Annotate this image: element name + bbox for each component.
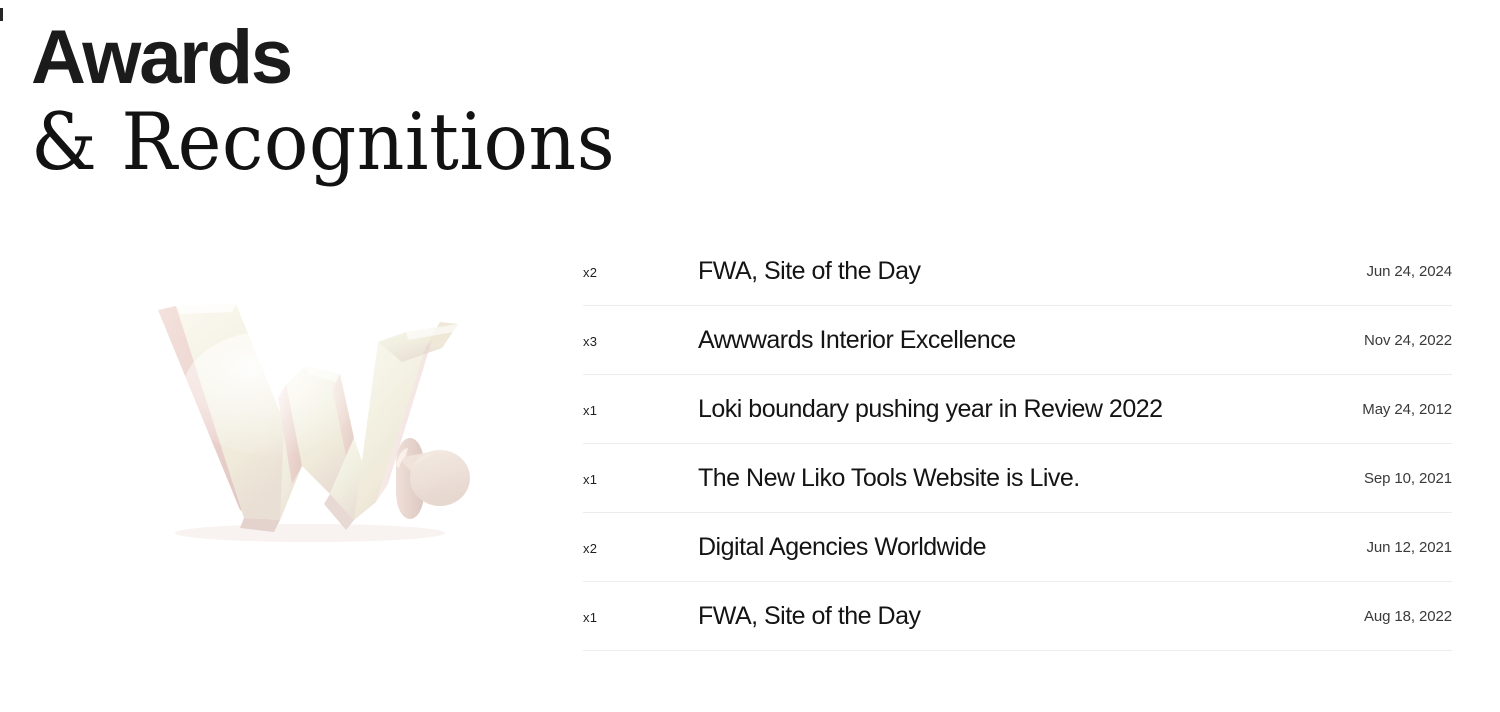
award-count: x1: [583, 401, 698, 418]
award-title: FWA, Site of the Day: [698, 257, 1366, 286]
award-date: Nov 24, 2022: [1364, 332, 1452, 349]
award-title: Digital Agencies Worldwide: [698, 533, 1366, 562]
award-count: x2: [583, 539, 698, 556]
award-title: FWA, Site of the Day: [698, 602, 1364, 631]
awards-page: Awards & Recognitions: [0, 0, 1500, 712]
award-title: Awwwards Interior Excellence: [698, 326, 1364, 355]
award-date: Sep 10, 2021: [1364, 470, 1452, 487]
table-row[interactable]: x1 The New Liko Tools Website is Live. S…: [583, 444, 1452, 513]
table-row[interactable]: x3 Awwwards Interior Excellence Nov 24, …: [583, 306, 1452, 375]
award-date: Aug 18, 2022: [1364, 608, 1452, 625]
award-count: x1: [583, 470, 698, 487]
award-title: Loki boundary pushing year in Review 202…: [698, 395, 1362, 424]
edge-artifact: [0, 8, 3, 21]
awards-list: x2 FWA, Site of the Day Jun 24, 2024 x3 …: [583, 237, 1452, 651]
page-title: Awards & Recognitions: [31, 18, 671, 182]
table-row[interactable]: x2 Digital Agencies Worldwide Jun 12, 20…: [583, 513, 1452, 582]
award-date: Jun 24, 2024: [1366, 263, 1452, 280]
award-date: Jun 12, 2021: [1366, 539, 1452, 556]
award-count: x2: [583, 263, 698, 280]
award-count: x3: [583, 332, 698, 349]
award-title: The New Liko Tools Website is Live.: [698, 464, 1364, 493]
award-date: May 24, 2012: [1362, 401, 1452, 418]
page-title-primary: Awards: [31, 18, 671, 98]
table-row[interactable]: x1 FWA, Site of the Day Aug 18, 2022: [583, 582, 1452, 651]
page-title-secondary: & Recognitions: [31, 98, 671, 187]
table-row[interactable]: x2 FWA, Site of the Day Jun 24, 2024: [583, 237, 1452, 306]
w-3d-logo: [140, 288, 480, 543]
table-row[interactable]: x1 Loki boundary pushing year in Review …: [583, 375, 1452, 444]
award-count: x1: [583, 608, 698, 625]
